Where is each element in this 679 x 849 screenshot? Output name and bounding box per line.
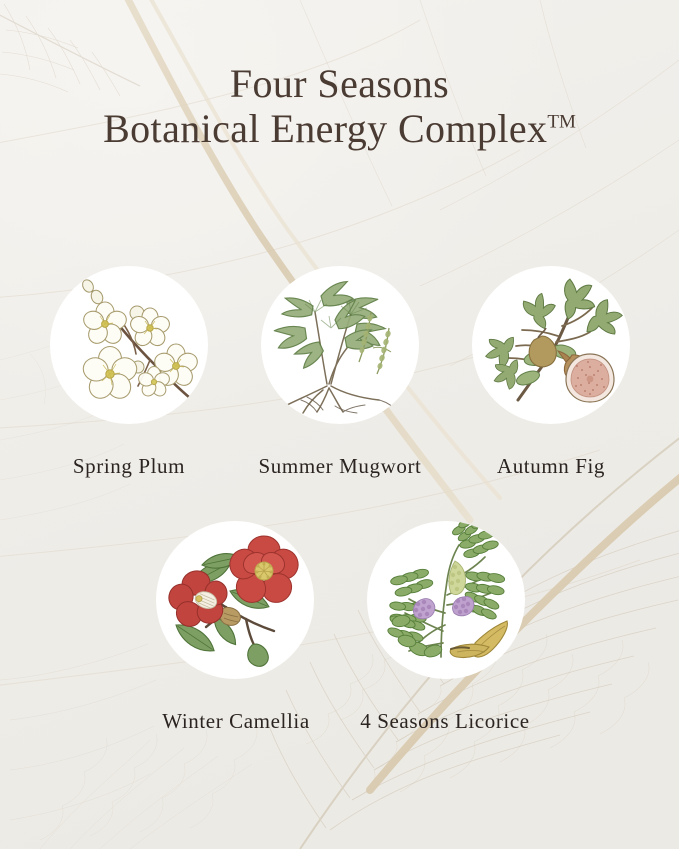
ingredient-label-autumn-fig: Autumn Fig — [422, 454, 679, 479]
title-line-1: Four Seasons — [0, 62, 679, 107]
fig-branch-icon — [472, 266, 630, 424]
plum-blossom-branch-icon — [50, 266, 208, 424]
ingredient-label-four-seasons-licorice: 4 Seasons Licorice — [245, 709, 645, 734]
trademark-symbol: TM — [547, 111, 576, 132]
ingredient-circle-spring-plum — [50, 266, 208, 424]
licorice-plant-icon — [367, 521, 525, 679]
camellia-flower-icon — [156, 521, 314, 679]
ingredient-circle-winter-camellia — [156, 521, 314, 679]
ingredient-circle-summer-mugwort — [261, 266, 419, 424]
mugwort-plant-icon — [261, 266, 419, 424]
title-line-2-text: Botanical Energy Complex — [103, 106, 547, 151]
title-line-2: Botanical Energy ComplexTM — [0, 107, 679, 152]
product-ingredient-graphic: Four Seasons Botanical Energy ComplexTM — [0, 0, 679, 849]
ingredient-circle-autumn-fig — [472, 266, 630, 424]
page-title: Four Seasons Botanical Energy ComplexTM — [0, 62, 679, 152]
ingredient-circle-four-seasons-licorice — [367, 521, 525, 679]
